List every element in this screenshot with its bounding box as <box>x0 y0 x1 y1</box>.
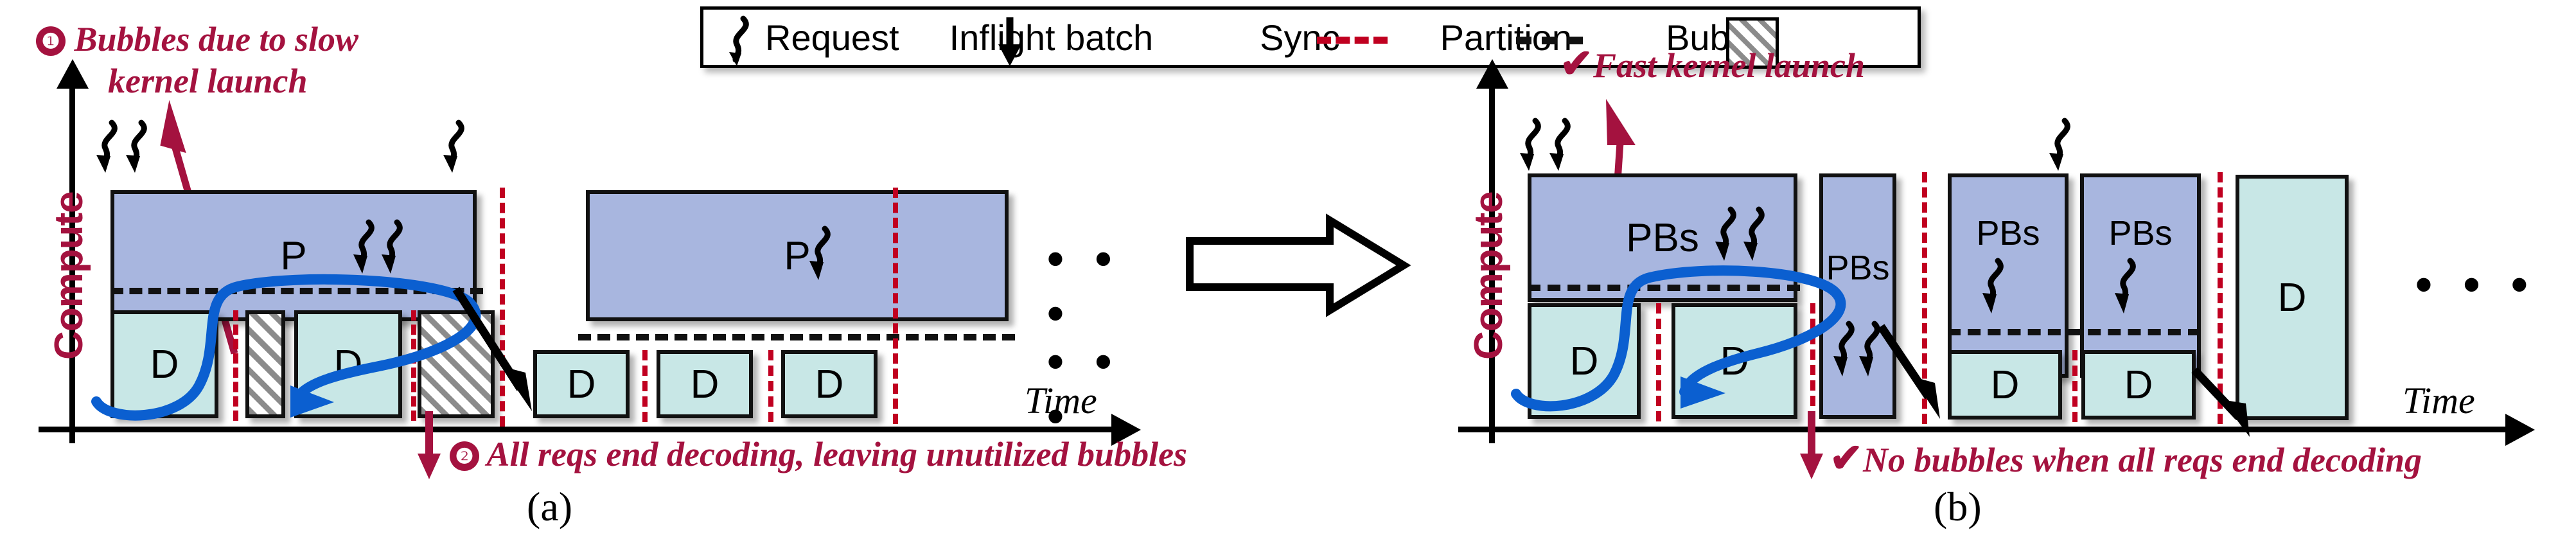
prefill-block-a-2[interactable]: P <box>586 190 1009 321</box>
annotation-a-2: ❷ All reqs end decoding, leaving unutili… <box>450 434 1187 474</box>
sync-line-a-4 <box>642 350 648 422</box>
decode-block-a-5[interactable]: D <box>781 350 878 418</box>
sync-line-b-4 <box>2072 350 2078 422</box>
request-squiggle-icon-a2 <box>437 119 488 193</box>
decode-block-label: D <box>691 362 719 407</box>
inflight-batch-arrow-a <box>450 283 578 424</box>
panel-a: Compute Time ❶ Bubbles due to slow kerne… <box>0 0 1156 539</box>
partition-line-a-2 <box>578 334 1015 340</box>
partition-line-b-2 <box>1948 329 2201 335</box>
decode-block-label: D <box>2124 362 2153 408</box>
annotation-a-1-line2: kernel launch <box>108 61 308 101</box>
decode-block-a-4[interactable]: D <box>657 350 753 418</box>
sync-line-a-6 <box>893 188 898 424</box>
decode-block-label: D <box>1991 362 2020 408</box>
prefill-block-label: PBs <box>2108 213 2172 253</box>
request-squiggle-icon-a4 <box>803 225 854 302</box>
inflight-batch-loop-b <box>1503 249 1901 416</box>
marker-1: ❶ <box>36 26 66 56</box>
inflight-batch-arrow-b-1 <box>1876 321 1966 430</box>
ellipsis-b: • • • <box>2415 257 2537 312</box>
decode-block-b-4[interactable]: D <box>2081 350 2196 420</box>
red-dashed-line-icon <box>1317 37 1388 44</box>
x-axis-arrow-b <box>2505 414 2535 446</box>
request-squiggle-icon-b5 <box>1979 257 2030 337</box>
annotation-b-2: ✔No bubbles when all reqs end decoding <box>1830 434 2422 482</box>
annotation-b-1-text: Fast kernel launch <box>1593 46 1865 85</box>
panel-b: Compute Time ✔Fast kernel launch PBs PBs <box>1400 0 2576 539</box>
annotation-a-1-text: Bubbles due to slow <box>75 20 359 58</box>
panel-a-caption: (a) <box>527 483 572 531</box>
callout-arrow-a-2 <box>411 411 450 482</box>
callout-arrow-b-2 <box>1794 411 1832 482</box>
annotation-a-2-text: All reqs end decoding, leaving unutilize… <box>487 435 1188 473</box>
ellipsis-a-top: • • • <box>1047 231 1156 340</box>
panel-b-caption: (b) <box>1934 483 1982 531</box>
request-squiggle-icon-b6 <box>2111 257 2162 337</box>
ellipsis-a-bottom: • • • <box>1047 334 1156 443</box>
annotation-b-2-text: No bubbles when all reqs end decoding <box>1863 441 2422 479</box>
check-icon-b-2: ✔ <box>1830 437 1863 481</box>
decode-block-label: D <box>815 362 844 407</box>
check-icon-b-1: ✔ <box>1560 42 1593 86</box>
decode-block-label: D <box>2278 275 2307 321</box>
marker-2: ❷ <box>450 441 479 471</box>
annotation-b-1: ✔Fast kernel launch <box>1560 40 1865 87</box>
right-block-arrow-icon <box>1182 215 1413 331</box>
x-axis-b <box>1458 427 2512 432</box>
annotation-a-1-line1: ❶ Bubbles due to slow <box>36 19 358 59</box>
request-squiggle-icon-a1 <box>90 119 173 193</box>
x-axis-a <box>39 427 1118 432</box>
x-axis-label-b: Time <box>2403 379 2475 422</box>
prefill-block-label: PBs <box>1976 213 2040 253</box>
sync-line-a-5 <box>768 350 773 422</box>
